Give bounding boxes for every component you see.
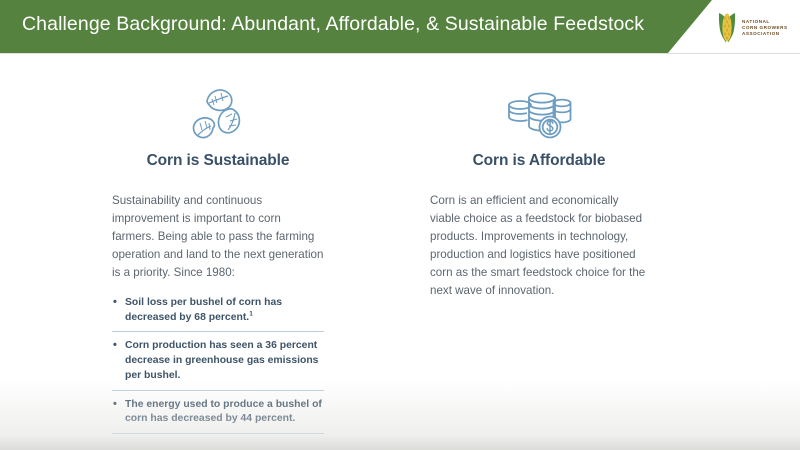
footnote-marker: 1	[249, 310, 253, 317]
bullet-text: The energy used to produce a bushel of c…	[125, 399, 322, 425]
bullet-text: Corn production has seen a 36 percent de…	[125, 340, 318, 381]
slide: Challenge Background: Abundant, Affordab…	[0, 0, 800, 450]
coin-stacks-dollar-icon	[430, 82, 648, 144]
corn-cob-icon	[716, 10, 738, 46]
logo-line-corn-growers: CORN GROWERS	[742, 26, 788, 31]
logo-line-national: NATIONAL	[742, 20, 788, 25]
logo-wordmark: NATIONAL CORN GROWERS ASSOCIATION	[742, 19, 788, 37]
list-item: Corn production has seen a 36 percent de…	[112, 339, 324, 390]
column-body-affordable: Corn is an efficient and economically vi…	[430, 192, 648, 300]
column-heading-sustainable: Corn is Sustainable	[112, 152, 324, 170]
column-body-sustainable: Sustainability and continuous improvemen…	[112, 192, 324, 282]
bullet-text: Soil loss per bushel of corn has decreas…	[125, 297, 282, 323]
recycle-leaves-icon	[112, 82, 324, 144]
sustainability-bullet-list: Soil loss per bushel of corn has decreas…	[112, 296, 324, 434]
page-title: Challenge Background: Abundant, Affordab…	[22, 13, 662, 36]
ncga-logo: NATIONAL CORN GROWERS ASSOCIATION	[716, 8, 794, 48]
header-divider	[0, 53, 800, 54]
column-affordable: Corn is Affordable Corn is an efficient …	[430, 56, 648, 300]
list-item: The energy used to produce a bushel of c…	[112, 398, 324, 435]
content-columns: Corn is Sustainable Sustainability and c…	[0, 56, 800, 450]
column-sustainable: Corn is Sustainable Sustainability and c…	[112, 56, 324, 450]
list-item: Soil loss per bushel of corn has decreas…	[112, 296, 324, 333]
logo-line-association: ASSOCIATION	[742, 32, 788, 37]
column-heading-affordable: Corn is Affordable	[430, 152, 648, 170]
slide-header: Challenge Background: Abundant, Affordab…	[0, 0, 800, 56]
